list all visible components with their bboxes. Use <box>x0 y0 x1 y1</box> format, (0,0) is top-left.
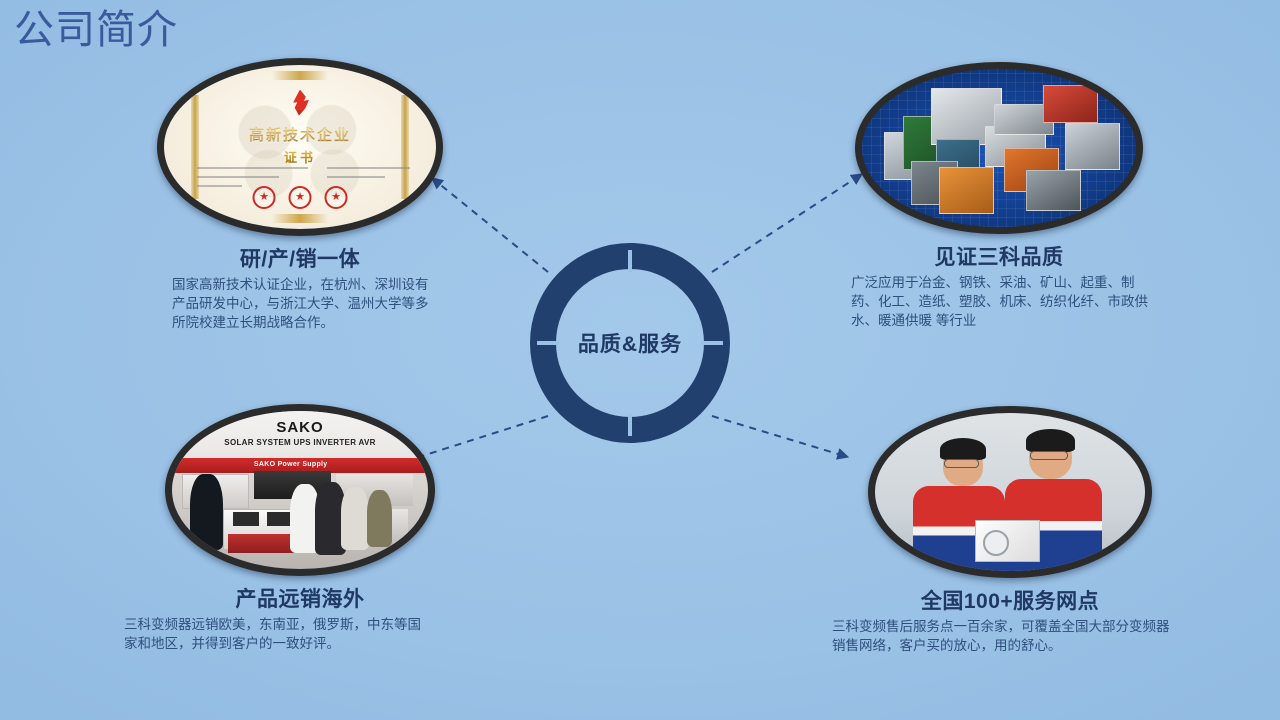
connector-top-right <box>712 174 862 272</box>
body-bottom-left: 三科变频器远销欧美，东南亚，俄罗斯，中东等国家和地区，并得到客户的一致好评。 <box>124 615 434 653</box>
seal-icon: ★ <box>325 186 348 209</box>
certificate-subtitle: 证书 <box>284 147 316 166</box>
certificate-image: 高新技术企业 证书 ★ ★ ★ <box>157 58 443 236</box>
expo-secondary-tagline-label: SAKO Power Supply <box>254 461 328 468</box>
quadrant-bottom-left[interactable]: SAKO SOLAR SYSTEM UPS INVERTER AVR SAKO … <box>140 404 460 653</box>
quadrant-bottom-right[interactable]: 全国100+服务网点 三科变频售后服务点一百余家，可覆盖全国大部分变频器销售网络… <box>830 406 1190 655</box>
quadrant-top-left[interactable]: 高新技术企业 证书 ★ ★ ★ 研/产/销一体 国家高新技术认证企 <box>150 58 450 332</box>
heading-bottom-right: 全国100+服务网点 <box>830 585 1190 615</box>
body-top-left: 国家高新技术认证企业，在杭州、深圳设有产品研发中心，与浙江大学、温州大学等多所院… <box>172 275 434 332</box>
body-bottom-right: 三科变频售后服务点一百余家，可覆盖全国大部分变频器销售网络，客户买的放心，用的舒… <box>832 617 1180 655</box>
expo-tagline-label: SOLAR SYSTEM UPS INVERTER AVR <box>224 438 375 447</box>
seal-icon: ★ <box>253 186 276 209</box>
expo-brand-label: SAKO <box>276 419 323 436</box>
heading-top-right: 见证三科品质 <box>843 241 1155 271</box>
slide-canvas: 公司简介 <box>0 0 1280 720</box>
heading-bottom-left: 产品远销海外 <box>140 583 460 613</box>
seal-icon: ★ <box>289 186 312 209</box>
fan-grille-icon <box>983 530 1009 556</box>
page-title: 公司简介 <box>14 8 178 52</box>
center-label: 品质&服务 <box>527 240 733 446</box>
technicians-image <box>868 406 1152 578</box>
quadrant-top-right[interactable]: 见证三科品质 广泛应用于冶金、钢铁、采油、矿山、起重、制药、化工、造纸、塑胶、机… <box>843 62 1155 330</box>
expo-booth-image: SAKO SOLAR SYSTEM UPS INVERTER AVR SAKO … <box>165 404 435 576</box>
certificate-title: 高新技术企业 <box>249 124 351 145</box>
certificate-seals: ★ ★ ★ <box>253 186 348 209</box>
center-hub: 品质&服务 <box>527 240 733 446</box>
body-top-right: 广泛应用于冶金、钢铁、采油、矿山、起重、制药、化工、造纸、塑胶、机床、纺织化纤、… <box>851 273 1151 330</box>
industry-collage-image <box>855 62 1143 234</box>
heading-top-left: 研/产/销一体 <box>150 243 450 273</box>
